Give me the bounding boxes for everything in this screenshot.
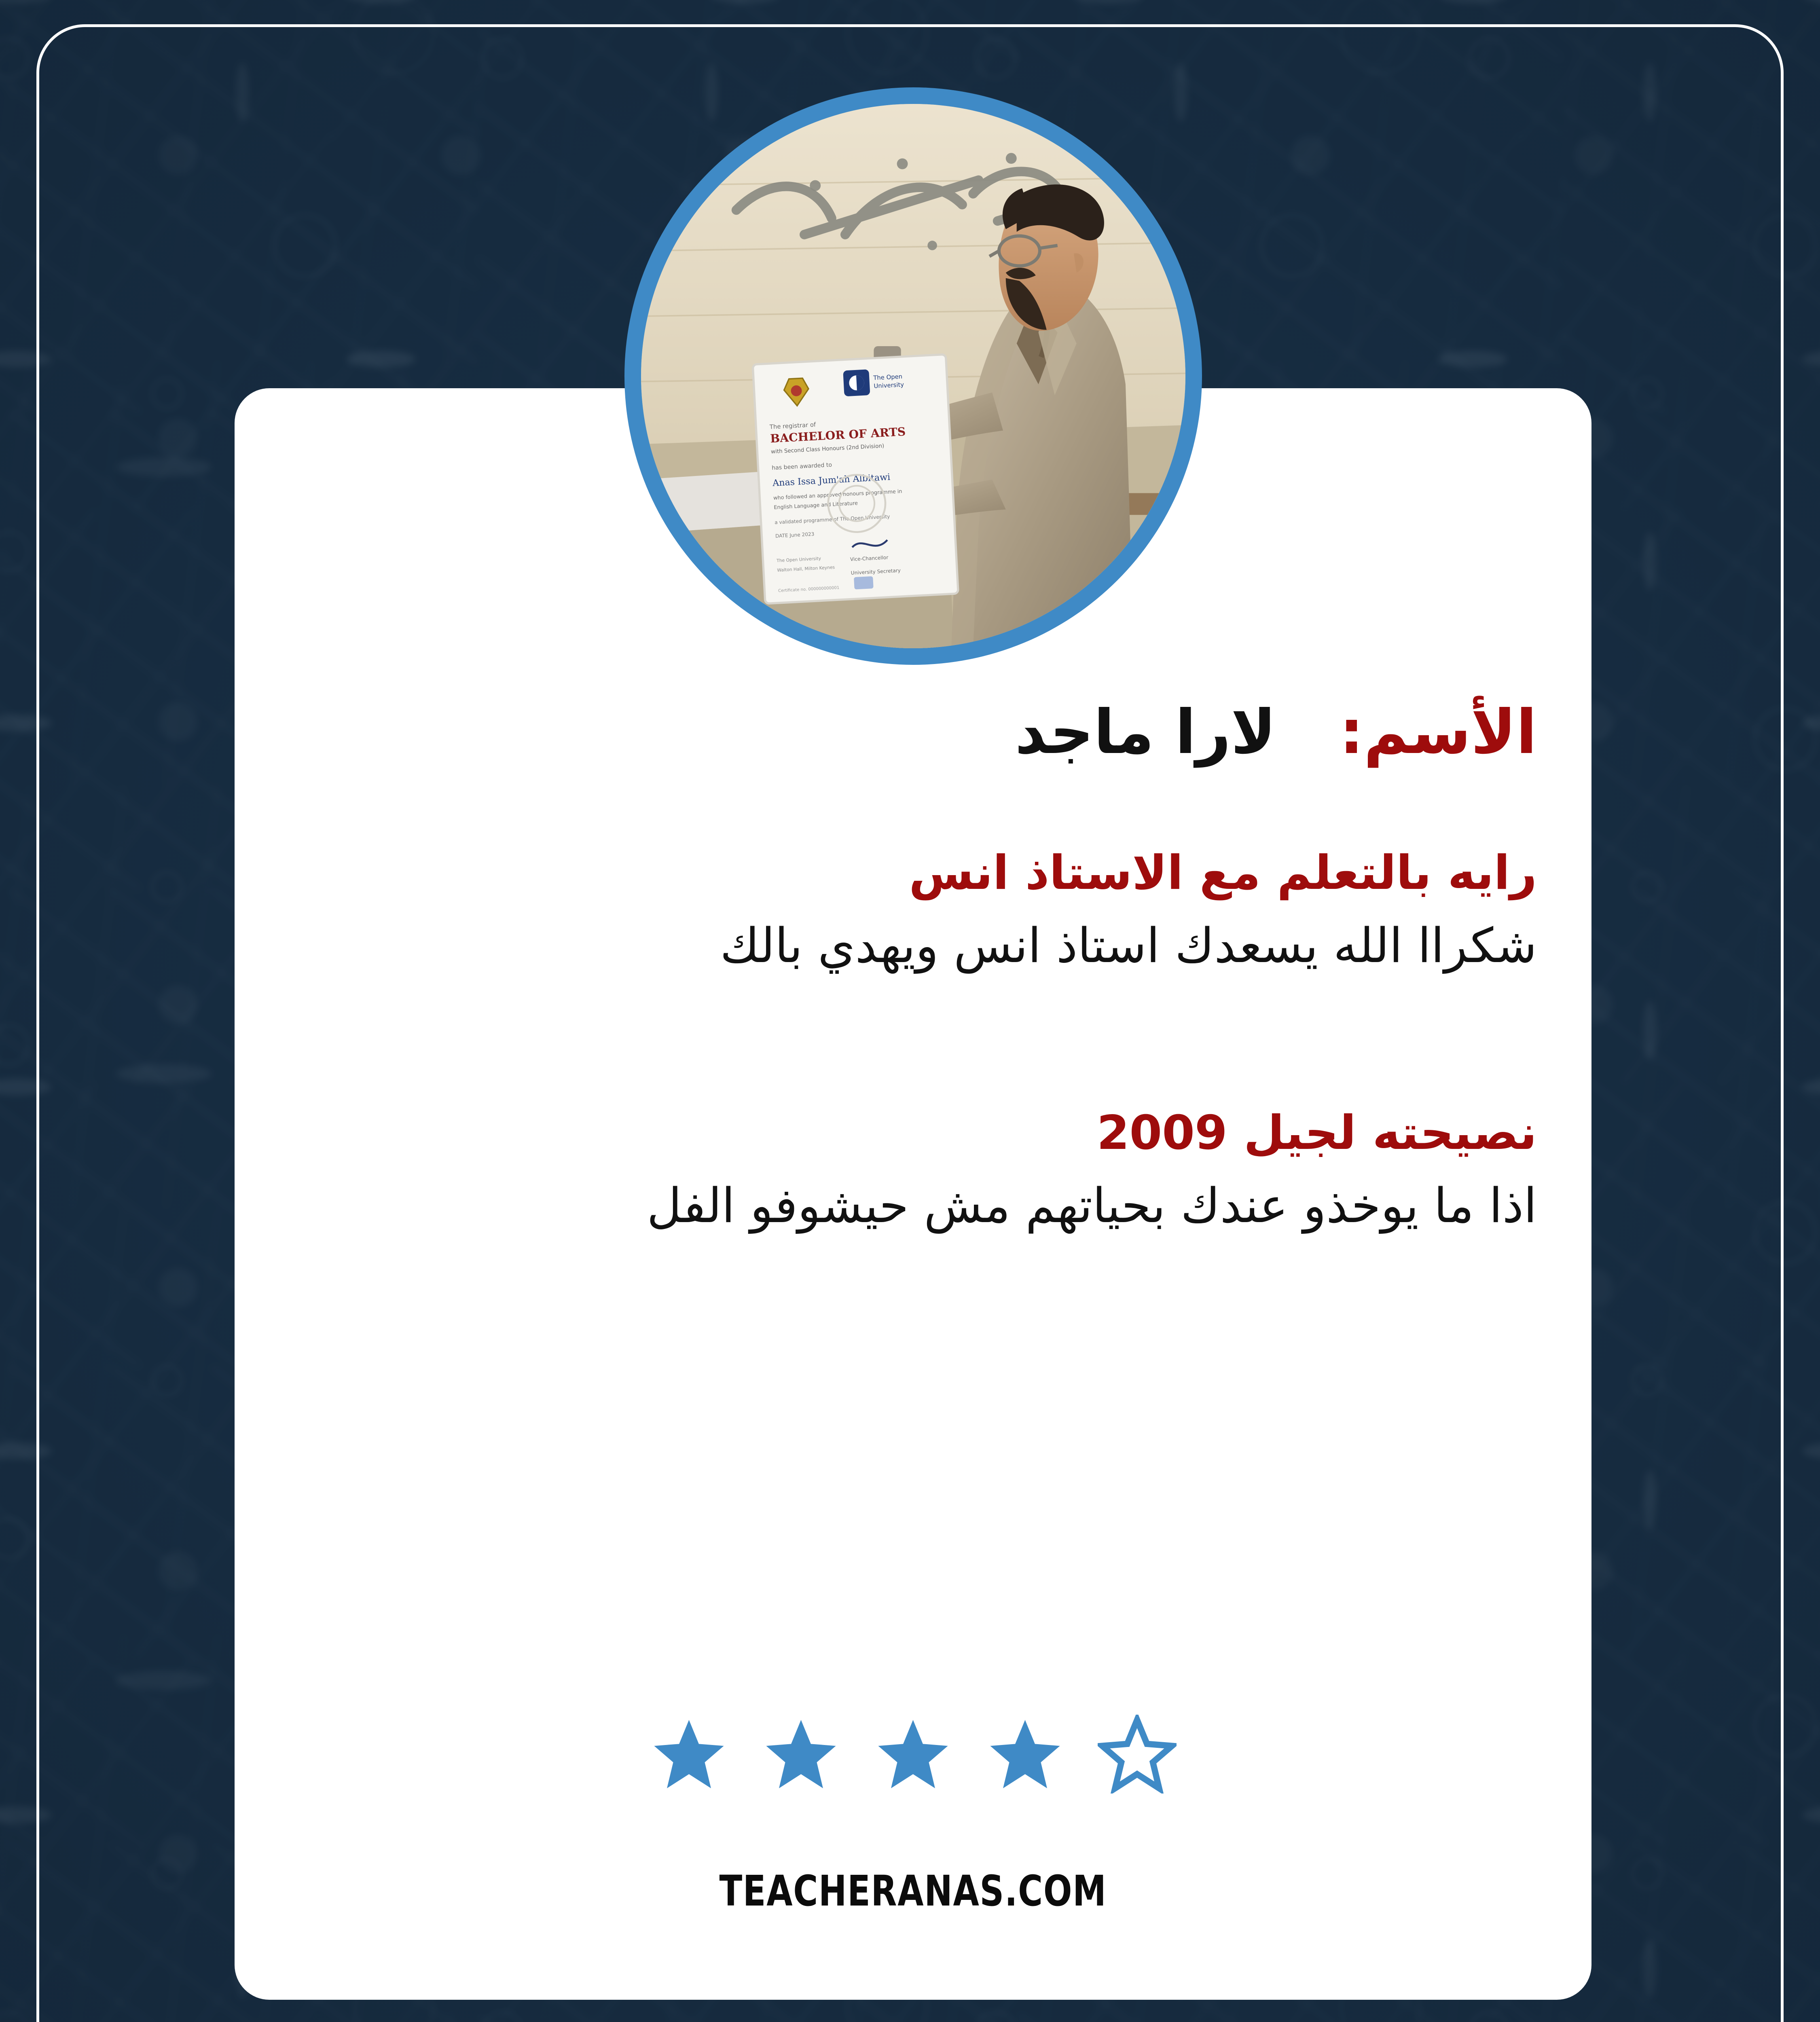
spacer-between-sections — [283, 978, 1537, 1103]
rating-stars — [235, 1715, 1591, 1794]
avatar-ring: The Open University The registrar of BAC… — [624, 87, 1202, 665]
website-footer[interactable]: TEACHERANAS.COM — [370, 1866, 1456, 1916]
name-label: الأسم: — [1340, 697, 1537, 768]
star-icon-outline-5[interactable] — [1098, 1715, 1177, 1794]
star-icon-filled-4[interactable] — [986, 1715, 1064, 1794]
star-icon-filled-1[interactable] — [650, 1715, 728, 1794]
student-name-row: الأسم: لارا ماجد — [283, 696, 1537, 770]
section-opinion-heading: رايه بالتعلم مع الاستاذ انس — [283, 843, 1537, 903]
avatar: The Open University The registrar of BAC… — [641, 104, 1185, 648]
section-opinion-body: شكراا الله يسعدك استاذ انس ويهدي بالك — [283, 914, 1537, 977]
name-value: لارا ماجد — [1015, 697, 1276, 768]
section-advice: نصيحته لجيل 2009 اذا ما يوخذو عندك بحيات… — [283, 1103, 1537, 1238]
section-advice-body: اذا ما يوخذو عندك بحياتهم مش حيشوفو الفل — [283, 1174, 1537, 1237]
star-icon-filled-3[interactable] — [874, 1715, 952, 1794]
section-opinion: رايه بالتعلم مع الاستاذ انس شكراا الله ي… — [283, 843, 1537, 978]
section-advice-heading: نصيحته لجيل 2009 — [283, 1103, 1537, 1163]
spacer-after-name — [283, 770, 1537, 843]
testimonial-poster: The Open University The registrar of BAC… — [0, 0, 1820, 2022]
star-icon-filled-2[interactable] — [762, 1715, 840, 1794]
testimonial-content: الأسم: لارا ماجد رايه بالتعلم مع الاستاذ… — [283, 696, 1537, 1237]
